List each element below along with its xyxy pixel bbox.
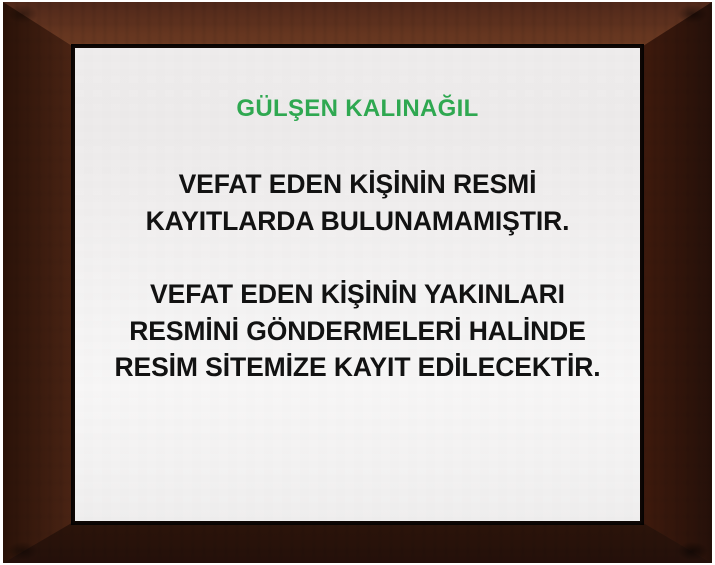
notice-line: RESİM SİTEMİZE KAYIT EDİLECEKTİR. xyxy=(83,349,632,386)
picture-frame: GÜLŞEN KALINAĞIL VEFAT EDEN KİŞİNİN RESM… xyxy=(3,2,712,563)
notice-line: VEFAT EDEN KİŞİNİN YAKINLARI xyxy=(83,276,632,313)
notice-photo-not-found: VEFAT EDEN KİŞİNİN RESMİ KAYITLARDA BULU… xyxy=(83,166,632,239)
notice-line: VEFAT EDEN KİŞİNİN RESMİ xyxy=(83,166,632,203)
deceased-name: GÜLŞEN KALINAĞIL xyxy=(75,96,640,122)
notice-line: RESMİNİ GÖNDERMELERİ HALİNDE xyxy=(83,313,632,350)
memorial-photo-placeholder: GÜLŞEN KALINAĞIL VEFAT EDEN KİŞİNİN RESM… xyxy=(0,0,715,565)
memorial-plaque: GÜLŞEN KALINAĞIL VEFAT EDEN KİŞİNİN RESM… xyxy=(75,48,640,521)
plaque-content: GÜLŞEN KALINAĞIL VEFAT EDEN KİŞİNİN RESM… xyxy=(75,48,640,521)
notice-photo-submission-info: VEFAT EDEN KİŞİNİN YAKINLARI RESMİNİ GÖN… xyxy=(83,276,632,386)
notice-line: KAYITLARDA BULUNAMAMIŞTIR. xyxy=(83,203,632,240)
